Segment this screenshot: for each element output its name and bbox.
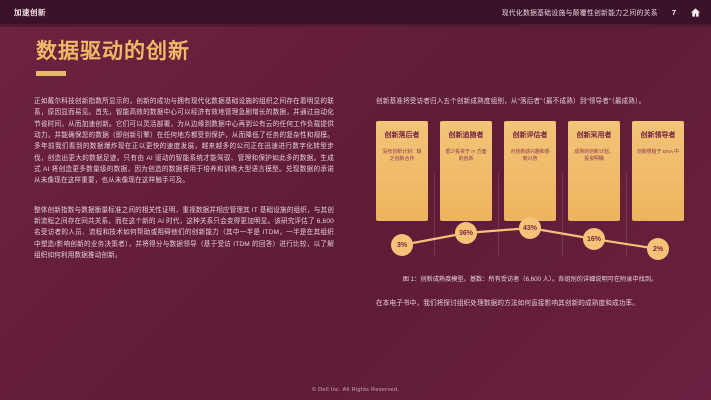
title-underline-rule	[36, 71, 66, 76]
page-header: 加速创新 现代化数据基础设施与颠覆性创新能力之间的关系 7	[0, 0, 711, 24]
figure-caption: 图 1：创新成熟度模型。基数：所有受访者（6,600 人）。各组别的详细说明可在…	[376, 275, 684, 285]
header-divider	[0, 24, 711, 27]
page-number: 7	[672, 8, 676, 17]
ebook-page: 加速创新 现代化数据基础设施与颠覆性创新能力之间的关系 7 数据驱动的创新 正如…	[0, 0, 711, 400]
copyright-text: © Dell Inc. All Rights Reserved.	[312, 387, 399, 393]
title-block: 数据驱动的创新	[36, 40, 190, 76]
page-title: 数据驱动的创新	[36, 40, 190, 63]
document-subtitle: 现代化数据基础设施与颠覆性创新能力之间的关系	[502, 7, 658, 17]
page-footer: © Dell Inc. All Rights Reserved.	[0, 380, 711, 400]
body-paragraph-1: 正如戴尔科技创新指数所显示的，创新的成功与拥有现代化数据基础设施的组织之间存在着…	[34, 96, 334, 187]
body-paragraph-2: 整体创新指数与数据衡量标准之间的相关性证明，重视数据并相应管理其 IT 基础设施…	[34, 205, 334, 262]
closing-paragraph: 在本电子书中，我们将探讨组织处理数据的方法如何直接影响其创新的成熟度和成功率。	[376, 298, 684, 309]
chart-trend-line	[376, 121, 684, 271]
header-right-group: 现代化数据基础设施与颠覆性创新能力之间的关系 7	[502, 7, 701, 18]
brand-label: 加速创新	[14, 7, 46, 18]
left-text-column: 正如戴尔科技创新指数所显示的，创新的成功与拥有现代化数据基础设施的组织之间存在着…	[34, 96, 334, 261]
chart-intro-paragraph: 创新基准将受访者归入五个创新成熟度组别，从“落后者”（最不成熟）到“领导者”（最…	[376, 96, 684, 107]
right-content-column: 创新基准将受访者归入五个创新成熟度组别，从“落后者”（最不成熟）到“领导者”（最…	[376, 96, 684, 310]
home-icon[interactable]	[690, 7, 701, 18]
innovation-maturity-chart: 创新落后者 没有创新计划：缺乏创新合作 创新追随者 很少投资于 IT 方面的创新…	[376, 121, 684, 271]
